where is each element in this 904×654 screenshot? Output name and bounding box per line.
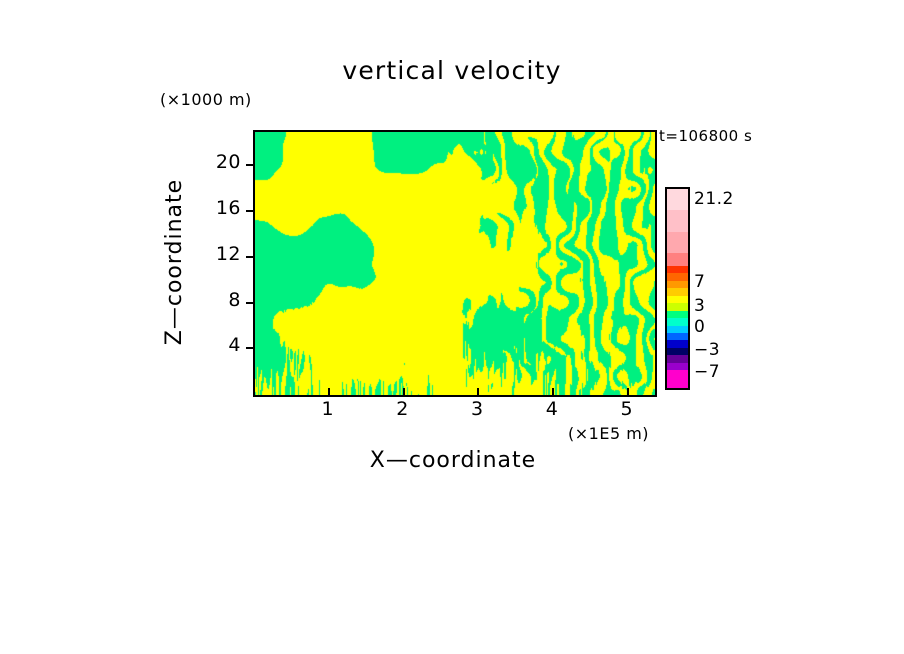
colorbar-band <box>667 288 688 295</box>
colorbar-band <box>667 189 688 210</box>
colorbar-tick-label: 3 <box>694 296 705 316</box>
colorbar-band <box>667 348 688 355</box>
colorbar-band <box>667 333 688 340</box>
y-tick-mark <box>246 347 253 349</box>
x-tick-mark <box>403 388 405 395</box>
x-tick-mark <box>627 388 629 395</box>
colorbar-band <box>667 363 688 370</box>
x-tick-label: 4 <box>532 398 572 420</box>
colorbar-band <box>667 232 688 253</box>
y-tick-mark <box>246 164 253 166</box>
colorbar-band <box>667 273 688 280</box>
y-axis-title: Z—coordinate <box>162 155 192 369</box>
y-axis-units-label: (×1000 m) <box>160 90 252 109</box>
colorbar-band <box>667 253 688 265</box>
x-tick-label: 1 <box>308 398 348 420</box>
colorbar-band <box>667 296 688 303</box>
colorbar-band <box>667 311 688 318</box>
x-tick-label: 3 <box>457 398 497 420</box>
contour-field <box>255 132 655 395</box>
figure-canvas: vertical velocity (×1000 m) t=106800 s Z… <box>0 0 904 654</box>
colorbar-tick-label: 0 <box>694 317 705 337</box>
colorbar-band <box>667 303 688 310</box>
y-tick-label: 4 <box>197 334 241 356</box>
colorbar-band <box>667 340 688 347</box>
x-axis-title: X—coordinate <box>253 448 653 473</box>
y-tick-mark <box>246 256 253 258</box>
y-tick-label: 12 <box>197 243 241 265</box>
y-tick-mark <box>246 210 253 212</box>
colorbar-tick-label: 21.2 <box>694 189 734 209</box>
y-tick-mark <box>246 302 253 304</box>
colorbar-tick-label: −7 <box>694 362 720 382</box>
colorbar-tick-label: −3 <box>694 340 720 360</box>
x-tick-mark <box>328 388 330 395</box>
y-tick-label: 20 <box>197 151 241 173</box>
x-axis-units-label: (×1E5 m) <box>568 424 649 443</box>
x-tick-mark <box>477 388 479 395</box>
colorbar-band <box>667 266 688 273</box>
page-title: vertical velocity <box>0 56 904 85</box>
colorbar-band <box>667 326 688 333</box>
colorbar-band <box>667 370 688 387</box>
x-tick-label: 5 <box>607 398 647 420</box>
colorbar-band <box>667 210 688 231</box>
colorbar-band <box>667 281 688 288</box>
contour-plot-area <box>253 130 657 397</box>
y-tick-label: 16 <box>197 197 241 219</box>
colorbar-band <box>667 318 688 325</box>
colorbar-tick-label: 7 <box>694 272 705 292</box>
colorbar <box>665 187 690 390</box>
x-tick-label: 2 <box>383 398 423 420</box>
time-annotation: t=106800 s <box>659 127 752 145</box>
x-tick-mark <box>552 388 554 395</box>
y-tick-label: 8 <box>197 289 241 311</box>
colorbar-band <box>667 355 688 362</box>
